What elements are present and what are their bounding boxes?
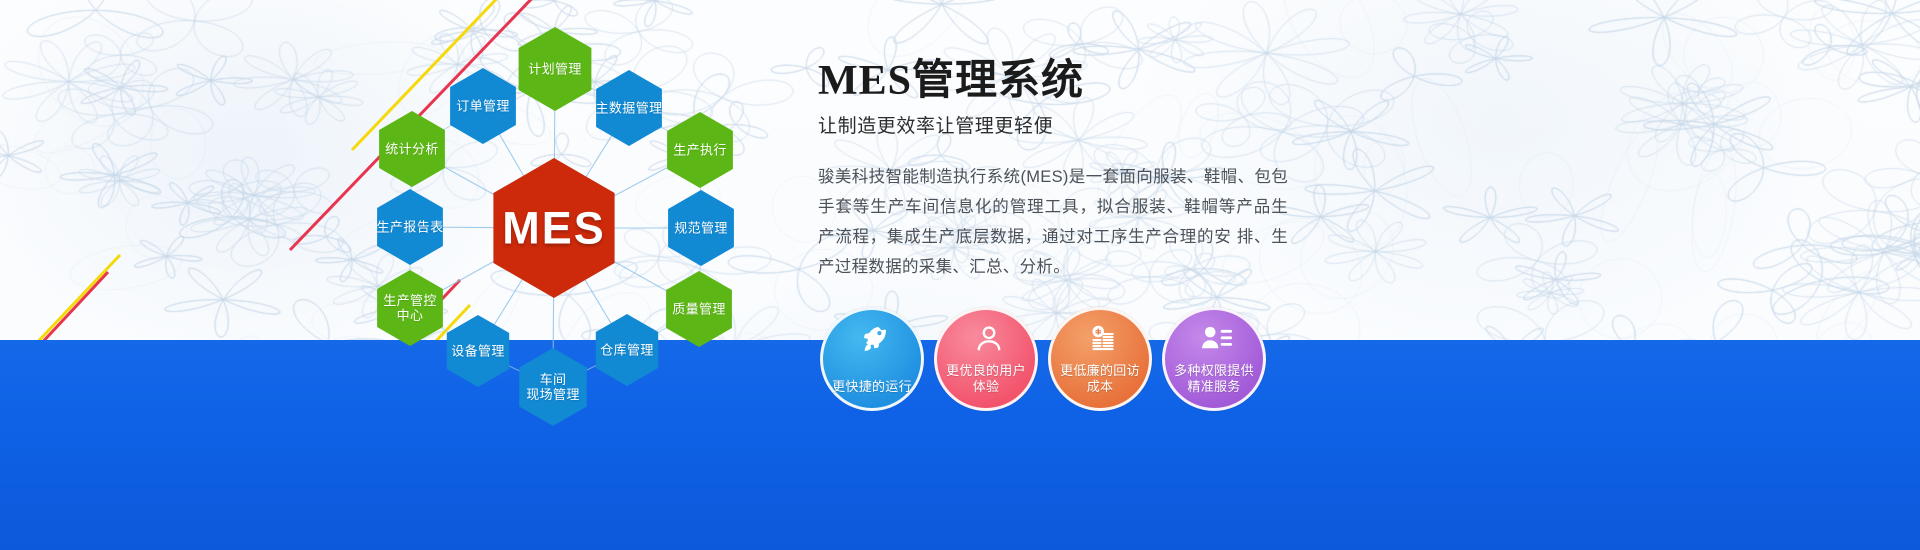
hexagon-shape	[519, 348, 587, 426]
hexagon-node-standard[interactable]	[668, 190, 734, 266]
banner-root: 计划管理订单管理主数据管理统计分析生产执行生产报告表规范管理生产管控 中心质量管…	[0, 0, 1920, 550]
hexagon-shape	[668, 190, 734, 266]
hexagon-shape	[596, 314, 658, 386]
hexagon-node-exec[interactable]	[667, 112, 733, 188]
hexagon-shape	[447, 315, 509, 387]
hexagon-shape	[377, 189, 443, 265]
hexagon-node-order[interactable]	[450, 68, 516, 144]
page-title: MES管理系统	[818, 58, 1288, 104]
feature-badge-label: 更快捷的运行	[832, 379, 912, 395]
hexagon-shape	[377, 270, 443, 346]
feature-badge-row: 更快捷的运行更优良的用户 体验更低廉的回访 成本多种权限提供 精准服务	[820, 307, 1266, 411]
hexagon-node-equipment[interactable]	[447, 315, 509, 387]
banner-text-column: MES管理系统 让制造更效率让管理更轻便 骏美科技智能制造执行系统(MES)是一…	[818, 58, 1288, 282]
hexagon-node-report[interactable]	[377, 189, 443, 265]
hexagon-shape	[379, 111, 445, 187]
rocket-icon	[823, 324, 927, 359]
feature-badge-experience[interactable]: 更优良的用户 体验	[934, 307, 1038, 411]
hexagon-shape	[450, 68, 516, 144]
hexagon-node-ctrlcenter[interactable]	[377, 270, 443, 346]
hexagon-shape	[596, 70, 662, 146]
coins-icon	[1051, 324, 1155, 359]
hexagon-shape	[667, 112, 733, 188]
feature-badge-label: 更优良的用户 体验	[946, 363, 1026, 395]
hexagon-shape	[519, 27, 592, 111]
hexagon-node-masterdata[interactable]	[596, 70, 662, 146]
feature-badge-fast[interactable]: 更快捷的运行	[820, 307, 924, 411]
hexagon-shape	[493, 158, 614, 298]
mes-hexagon-diagram: 计划管理订单管理主数据管理统计分析生产执行生产报告表规范管理生产管控 中心质量管…	[330, 10, 800, 440]
intro-paragraph: 骏美科技智能制造执行系统(MES)是一套面向服装、鞋帽、包包手套等生产车间信息化…	[818, 162, 1288, 282]
user-icon	[937, 324, 1041, 359]
hexagon-node-stats[interactable]	[379, 111, 445, 187]
hexagon-node-warehouse[interactable]	[596, 314, 658, 386]
user-list-icon	[1165, 324, 1269, 359]
hexagon-shape	[666, 271, 732, 347]
feature-badge-label: 更低廉的回访 成本	[1060, 363, 1140, 395]
feature-badge-label: 多种权限提供 精准服务	[1174, 363, 1254, 395]
hexagon-core-mes[interactable]	[493, 158, 614, 298]
page-subtitle: 让制造更效率让管理更轻便	[818, 111, 1288, 138]
hexagon-node-quality[interactable]	[666, 271, 732, 347]
hexagon-node-workshop[interactable]	[519, 348, 587, 426]
feature-badge-permission[interactable]: 多种权限提供 精准服务	[1162, 307, 1266, 411]
hexagon-node-plan[interactable]	[519, 27, 592, 111]
feature-badge-cost[interactable]: 更低廉的回访 成本	[1048, 307, 1152, 411]
